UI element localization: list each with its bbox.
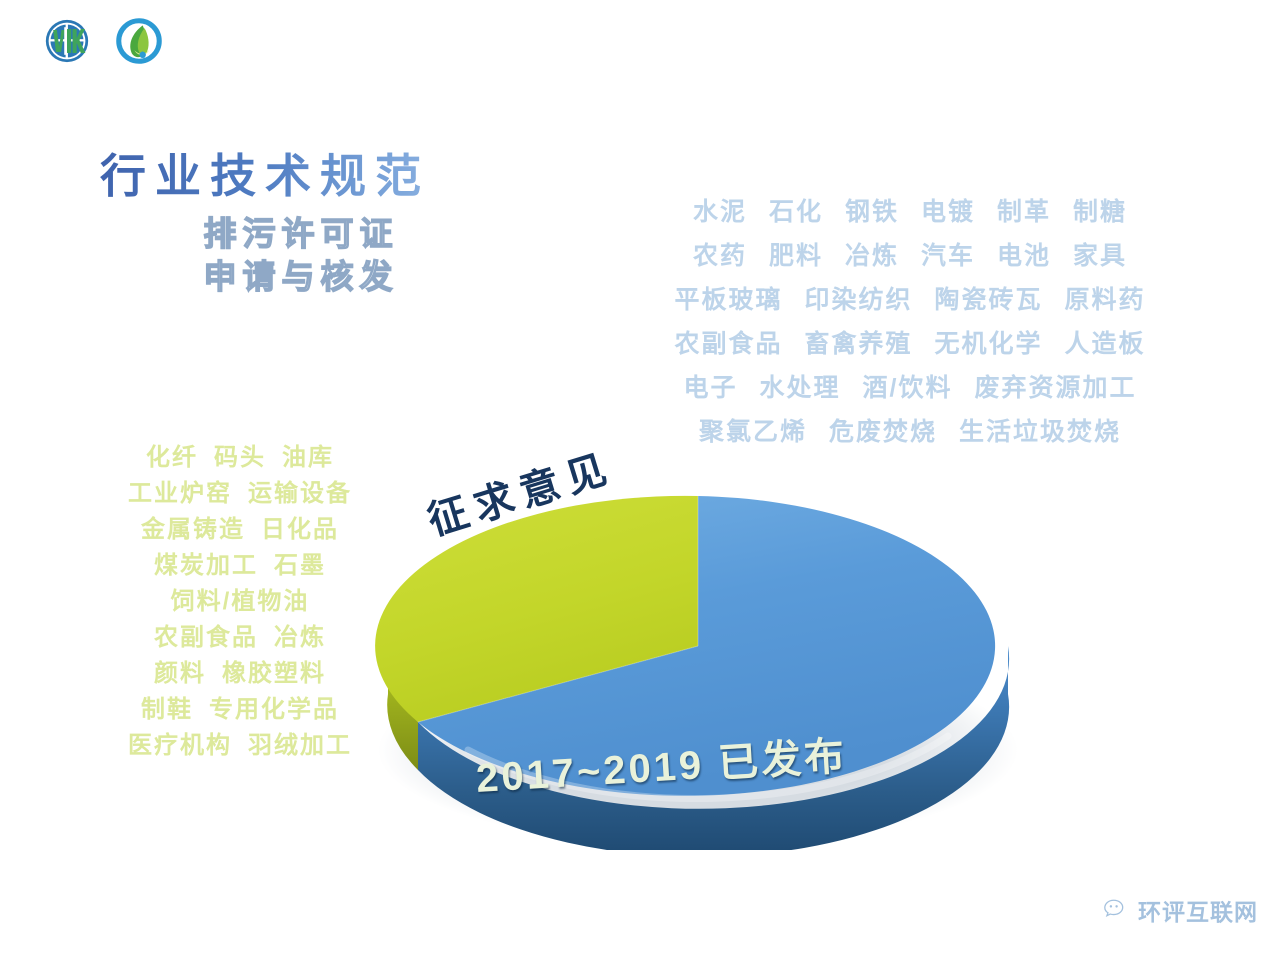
- published-industry-item: 水泥: [693, 198, 747, 226]
- published-industry-line: 聚氯乙烯危废焚烧生活垃圾焚烧: [610, 410, 1210, 454]
- consultation-industry-item: 冶炼: [274, 624, 326, 651]
- consultation-industry-item: 煤炭加工: [154, 552, 258, 579]
- published-industry-item: 平板玻璃: [674, 286, 782, 314]
- consultation-industry-item: 制鞋: [141, 696, 193, 723]
- published-industry-item: 危废焚烧: [829, 418, 937, 446]
- page-title: 行业技术规范: [100, 150, 520, 203]
- published-industry-line: 农药肥料冶炼汽车电池家具: [610, 234, 1210, 278]
- published-industry-item: 电子: [684, 374, 738, 402]
- consultation-industry-item: 农副食品: [154, 624, 258, 651]
- consultation-industry-item: 饲料/植物油: [171, 588, 310, 615]
- title-block: 行业技术规范 排污许可证 申请与核发: [100, 150, 520, 299]
- published-industry-item: 酒/饮料: [863, 374, 953, 402]
- consultation-industry-item: 码头: [214, 444, 266, 471]
- published-industry-item: 电池: [997, 242, 1051, 270]
- wechat-bubble-icon: [1104, 898, 1130, 922]
- published-industry-item: 生活垃圾焚烧: [959, 418, 1121, 446]
- watermark: 环评互联网: [1104, 893, 1258, 927]
- published-industry-item: 制糖: [1073, 198, 1127, 226]
- page-subtitle-line-2: 申请与核发: [100, 256, 502, 299]
- published-industry-line: 平板玻璃印染纺织陶瓷砖瓦原料药: [610, 278, 1210, 322]
- consultation-industry-item: 颜料: [154, 660, 206, 687]
- published-industry-line: 水泥石化钢铁电镀制革制糖: [610, 190, 1210, 234]
- slide-canvas: 行业技术规范 排污许可证 申请与核发 水泥石化钢铁电镀制革制糖农药肥料冶炼汽车电…: [0, 0, 1280, 955]
- whk-circle-logo: [44, 18, 90, 64]
- published-industry-item: 电镀: [921, 198, 975, 226]
- published-industry-item: 无机化学: [935, 330, 1043, 358]
- pie-chart: 征求意见 2017~2019 已发布: [348, 450, 1038, 850]
- published-industry-item: 石化: [769, 198, 823, 226]
- published-industry-item: 钢铁: [845, 198, 899, 226]
- published-industry-line: 电子水处理酒/饮料废弃资源加工: [610, 366, 1210, 410]
- consultation-industry-item: 橡胶塑料: [222, 660, 326, 687]
- consultation-industry-item: 金属铸造: [141, 516, 245, 543]
- published-industry-item: 陶瓷砖瓦: [935, 286, 1043, 314]
- published-industry-item: 印染纺织: [804, 286, 912, 314]
- consultation-industry-item: 医疗机构: [128, 732, 232, 759]
- published-industry-item: 农药: [693, 242, 747, 270]
- consultation-industry-item: 专用化学品: [209, 696, 339, 723]
- consultation-industry-item: 羽绒加工: [248, 732, 352, 759]
- published-industry-item: 人造板: [1065, 330, 1146, 358]
- consultation-industry-item: 油库: [282, 444, 334, 471]
- page-subtitle-line-1: 排污许可证: [100, 213, 502, 256]
- consultation-industry-item: 运输设备: [248, 480, 352, 507]
- published-industry-line: 农副食品畜禽养殖无机化学人造板: [610, 322, 1210, 366]
- logo-bar: [44, 18, 162, 64]
- published-industry-item: 冶炼: [845, 242, 899, 270]
- consultation-industry-item: 工业炉窑: [128, 480, 232, 507]
- published-industry-item: 原料药: [1065, 286, 1146, 314]
- consultation-industry-item: 石墨: [274, 552, 326, 579]
- published-industry-item: 水处理: [760, 374, 841, 402]
- published-industry-item: 农副食品: [674, 330, 782, 358]
- published-industry-list: 水泥石化钢铁电镀制革制糖农药肥料冶炼汽车电池家具平板玻璃印染纺织陶瓷砖瓦原料药农…: [610, 190, 1210, 454]
- published-industry-item: 制革: [997, 198, 1051, 226]
- published-industry-item: 聚氯乙烯: [699, 418, 807, 446]
- watermark-label: 环评互联网: [1138, 893, 1258, 927]
- published-industry-item: 废弃资源加工: [974, 374, 1136, 402]
- consultation-industry-item: 化纤: [146, 444, 198, 471]
- page-subtitle: 排污许可证 申请与核发: [100, 213, 520, 299]
- consultation-industry-item: 日化品: [261, 516, 339, 543]
- published-industry-item: 肥料: [769, 242, 823, 270]
- published-industry-item: 家具: [1073, 242, 1127, 270]
- published-industry-item: 汽车: [921, 242, 975, 270]
- green-leaf-droplet-logo: [116, 18, 162, 64]
- published-industry-item: 畜禽养殖: [804, 330, 912, 358]
